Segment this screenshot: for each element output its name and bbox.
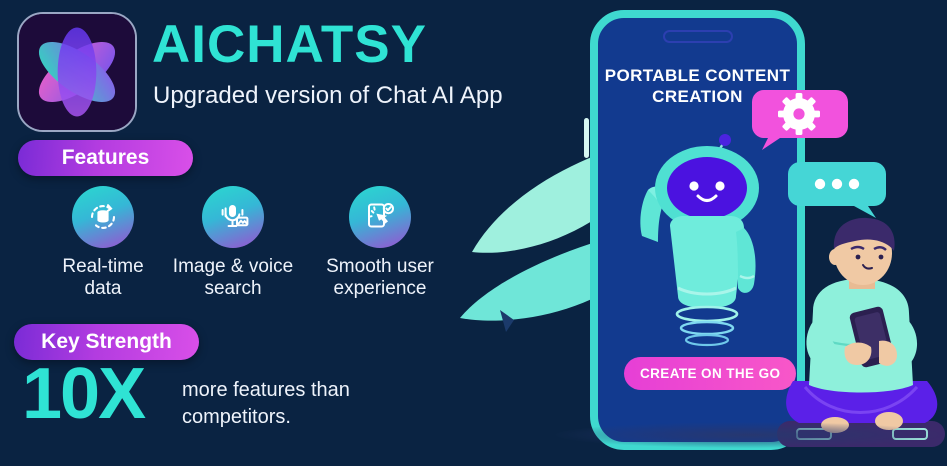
feature-label: Smooth user experience — [305, 256, 455, 300]
feature-item-smooth-user-experience: Smooth user experience — [305, 186, 455, 300]
feature-label: Real-time data — [28, 256, 178, 300]
feature-label: Image & voice search — [158, 256, 308, 300]
real-time-database-clock-icon — [72, 186, 134, 248]
phone-side-button — [584, 118, 589, 158]
page-title: AICHATSY — [152, 18, 427, 71]
gear-settings-icon — [750, 88, 848, 152]
stat-description: more features than competitors. — [182, 377, 350, 431]
feature-item-image-voice-search: Image & voice search — [158, 186, 308, 300]
chatbot-robot-icon — [612, 128, 802, 353]
promo-banner: AICHATSY Upgraded version of Chat AI App… — [0, 0, 947, 466]
microphone-image-search-icon — [202, 186, 264, 248]
hand-tap-phone-check-icon — [349, 186, 411, 248]
create-on-the-go-button[interactable]: CREATE ON THE GO — [624, 357, 796, 390]
features-badge: Features — [18, 140, 193, 176]
ground-shadow — [555, 422, 945, 448]
illustration-panel: PORTABLE CONTENT CREATION — [450, 0, 947, 466]
stat-number: 10X — [22, 358, 144, 430]
atom-orbit-logo-icon — [17, 12, 137, 132]
phone-notch — [663, 30, 733, 43]
phone-mockup: PORTABLE CONTENT CREATION — [590, 10, 805, 450]
typing-dots-icon — [788, 160, 886, 220]
feature-item-real-time-data: Real-time data — [28, 186, 178, 300]
